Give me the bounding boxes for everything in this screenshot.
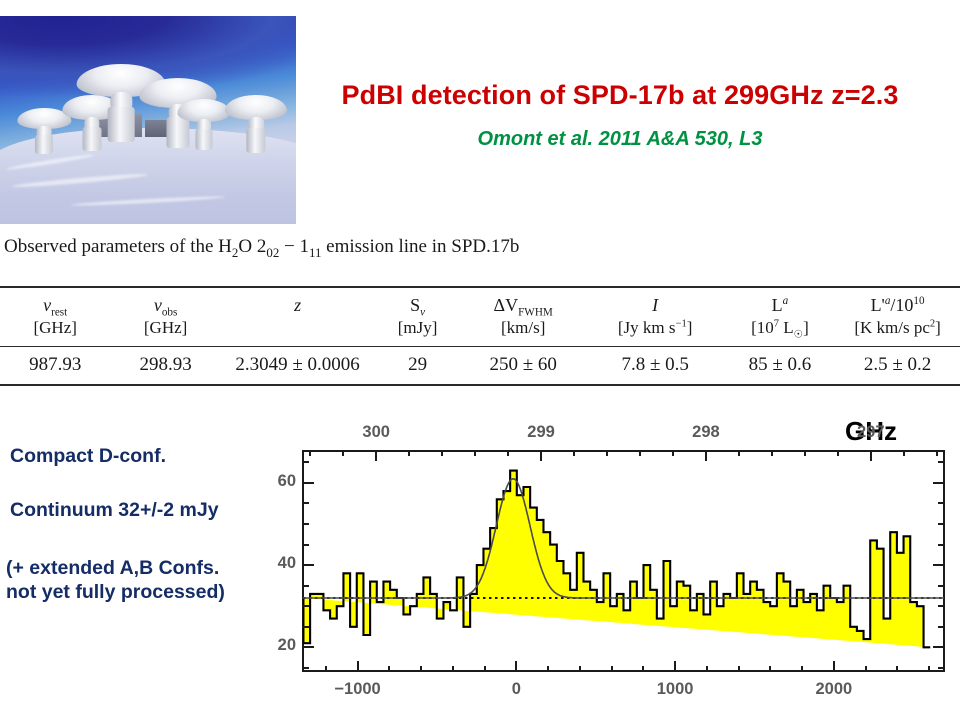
y-axis-label: 60 (266, 472, 296, 491)
caption-text-dash: − 1 (279, 236, 309, 257)
x-tick-minor (579, 666, 581, 672)
y-tick-major (302, 564, 314, 566)
x-tick-minor (420, 666, 422, 672)
note-compact-d-conf: Compact D-conf. (10, 444, 166, 468)
y-tick-minor-right (938, 626, 945, 628)
note-extended-line-a: (+ extended A,B Confs. (6, 557, 219, 579)
y-tick-minor (302, 523, 309, 525)
antenna-dish (178, 99, 231, 149)
header-nu-rest: νrest[GHz] (0, 288, 110, 346)
x-tick-major (833, 661, 835, 672)
y-tick-minor-right (938, 667, 945, 669)
y-tick-minor (302, 502, 309, 504)
table-rule-bottom (0, 384, 960, 386)
y-tick-minor-right (938, 523, 945, 525)
x-tick-minor (388, 666, 390, 672)
top-tick-minor (441, 450, 443, 456)
x-tick-minor (865, 666, 867, 672)
note-extended-line-b: not yet fully processed) (6, 581, 225, 603)
top-axis-label: 297 (847, 423, 895, 442)
caption-text-post: emission line in SPD.17b (321, 236, 519, 257)
header-s-nu: Sν[mJy] (374, 288, 460, 346)
top-tick-minor (771, 450, 773, 456)
note-continuum: Continuum 32+/-2 mJy (10, 498, 219, 522)
cell-s-nu: 29 (374, 347, 460, 384)
x-tick-minor (547, 666, 549, 672)
top-axis-label: 299 (517, 423, 565, 442)
x-tick-minor (801, 666, 803, 672)
x-tick-minor (452, 666, 454, 672)
y-tick-minor (302, 605, 309, 607)
y-tick-major-right (933, 646, 945, 648)
caption-text-pre: Observed parameters of the H (4, 236, 232, 257)
y-tick-minor-right (938, 461, 945, 463)
y-tick-major (302, 482, 314, 484)
top-tick-minor (672, 450, 674, 456)
bottom-axis-label: 0 (476, 680, 556, 699)
top-axis-label: 300 (352, 423, 400, 442)
header-i: I[Jy km s−1] (586, 288, 725, 346)
x-tick-major (515, 661, 517, 672)
y-tick-major (302, 646, 314, 648)
x-tick-minor (738, 666, 740, 672)
top-tick-minor (639, 450, 641, 456)
x-tick-minor (484, 666, 486, 672)
x-tick-minor (642, 666, 644, 672)
top-tick-major (705, 450, 707, 461)
y-tick-minor-right (938, 605, 945, 607)
top-tick-minor (738, 450, 740, 456)
cell-i: 7.8 ± 0.5 (586, 347, 725, 384)
header-z: z (221, 288, 375, 346)
header-l: La[107 L☉] (725, 288, 835, 346)
x-tick-major (674, 661, 676, 672)
cell-l-prime: 2.5 ± 0.2 (835, 347, 960, 384)
x-tick-minor (896, 666, 898, 672)
parameters-table: νrest[GHz] νobs[GHz] z Sν[mJy] ΔVFWHM[km… (0, 286, 960, 386)
bottom-axis-label: −1000 (318, 680, 398, 699)
top-tick-minor (474, 450, 476, 456)
y-tick-minor-right (938, 502, 945, 504)
top-tick-minor (837, 450, 839, 456)
top-tick-major (375, 450, 377, 461)
caption-text-mid: O 2 (238, 236, 266, 257)
top-tick-minor (936, 450, 938, 456)
bottom-axis-label: 1000 (635, 680, 715, 699)
x-tick-minor (928, 666, 930, 672)
y-tick-minor (302, 544, 309, 546)
y-tick-major-right (933, 482, 945, 484)
top-tick-minor (309, 450, 311, 456)
table-data-row: 987.93 298.93 2.3049 ± 0.0006 29 250 ± 6… (0, 347, 960, 384)
slide-title: PdBI detection of SPD-17b at 299GHz z=2.… (284, 80, 956, 111)
cell-nu-obs: 298.93 (110, 347, 220, 384)
x-tick-major (357, 661, 359, 672)
y-tick-minor (302, 585, 309, 587)
top-tick-major (870, 450, 872, 461)
y-axis-label: 40 (266, 554, 296, 573)
top-tick-minor (804, 450, 806, 456)
x-tick-minor (611, 666, 613, 672)
top-axis-label: 298 (682, 423, 730, 442)
caption-sub-11: 11 (309, 245, 321, 260)
x-tick-minor (769, 666, 771, 672)
table-header-row: νrest[GHz] νobs[GHz] z Sν[mJy] ΔVFWHM[km… (0, 288, 960, 346)
note-extended-confs: (+ extended A,B Confs. not yet fully pro… (6, 556, 225, 605)
cell-delta-v: 250 ± 60 (461, 347, 586, 384)
caption-sub-02: 02 (266, 245, 279, 260)
header-delta-v-fwhm: ΔVFWHM[km/s] (461, 288, 586, 346)
pdbi-telescope-photo (0, 16, 296, 224)
header-nu-obs: νobs[GHz] (110, 288, 220, 346)
top-tick-minor (342, 450, 344, 456)
antenna-dish (225, 95, 287, 151)
x-tick-minor (706, 666, 708, 672)
bottom-axis-label: 2000 (794, 680, 874, 699)
table-caption: Observed parameters of the H2O 202 − 111… (4, 236, 519, 258)
cell-l: 85 ± 0.6 (725, 347, 835, 384)
spectrum-histogram (302, 450, 945, 672)
top-tick-minor (507, 450, 509, 456)
y-tick-minor (302, 626, 309, 628)
y-tick-minor (302, 461, 309, 463)
y-tick-major-right (933, 564, 945, 566)
y-axis-label: 20 (266, 636, 296, 655)
top-tick-minor (606, 450, 608, 456)
top-tick-minor (573, 450, 575, 456)
y-tick-minor-right (938, 585, 945, 587)
top-tick-minor (408, 450, 410, 456)
top-tick-minor (903, 450, 905, 456)
cell-z: 2.3049 ± 0.0006 (221, 347, 375, 384)
cell-nu-rest: 987.93 (0, 347, 110, 384)
x-tick-minor (325, 666, 327, 672)
slide-subtitle-reference: Omont et al. 2011 A&A 530, L3 (284, 128, 956, 151)
y-tick-minor (302, 667, 309, 669)
top-tick-major (540, 450, 542, 461)
y-tick-minor-right (938, 544, 945, 546)
spectrum-plot: 204060300299298297−1000010002000 (302, 450, 945, 672)
header-l-prime: L'a/1010[K km/s pc2] (835, 288, 960, 346)
